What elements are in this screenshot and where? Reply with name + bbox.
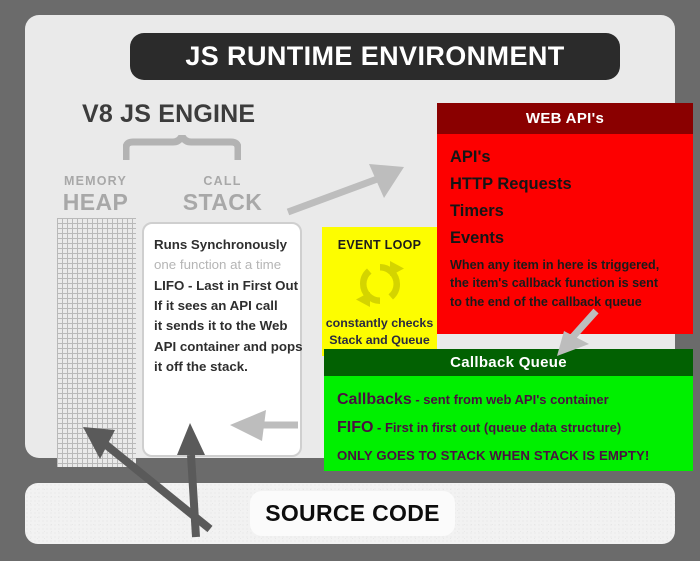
event-loop-box: EVENT LOOP constantly checks Stack and Q… [322,227,437,356]
memory-heap-label-bottom: HEAP [43,191,148,214]
callback-queue-body: Callbacks - sent from web API's containe… [324,376,693,470]
web-apis-note: When any item in here is triggered, the … [450,256,693,312]
diagram-canvas: JS RUNTIME ENVIRONMENT V8 JS ENGINE MEMO… [0,0,700,561]
call-stack-line: it sends it to the Web [154,316,291,336]
web-apis-header-text: WEB API's [526,110,604,127]
callback-queue-row-strong: FIFO [337,419,373,436]
event-loop-caption-line2: Stack and Queue [329,333,430,347]
callback-queue-row-rest: - First in first out (queue data structu… [373,420,621,435]
memory-heap-label-top: MEMORY [43,175,148,188]
web-apis-note-line2: the item's callback function is sent [450,276,658,290]
callback-queue-row: ONLY GOES TO STACK WHEN STACK IS EMPTY! [337,442,693,470]
call-stack-label-bottom: STACK [165,191,280,214]
circular-refresh-arrows-icon [352,259,408,309]
call-stack-line: Runs Synchronously [154,235,291,255]
runtime-title-text: JS RUNTIME ENVIRONMENT [185,41,564,72]
callback-queue-row: Callbacks - sent from web API's containe… [337,386,693,414]
source-code-pill: SOURCE CODE [250,491,455,536]
web-apis-body: API's HTTP Requests Timers Events When a… [437,134,693,311]
call-stack-line: LIFO - Last in First Out [154,276,291,296]
event-loop-caption: constantly checks Stack and Queue [322,315,437,348]
callback-queue-row-rest: - sent from web API's container [412,392,609,407]
callback-queue-header-text: Callback Queue [450,354,567,371]
web-apis-item: HTTP Requests [450,171,693,198]
web-apis-item: API's [450,144,693,171]
callback-queue-header: Callback Queue [324,349,693,376]
curly-brace-icon [123,135,241,161]
web-apis-box: WEB API's API's HTTP Requests Timers Eve… [437,103,693,334]
call-stack-line: one function at a time [154,255,291,275]
source-code-label: SOURCE CODE [265,500,440,527]
web-apis-note-line1: When any item in here is triggered, [450,258,659,272]
memory-heap-grid [57,218,136,467]
callback-queue-row-strong: Callbacks [337,391,412,408]
runtime-title-bar: JS RUNTIME ENVIRONMENT [130,33,620,80]
call-stack-box: Runs Synchronously one function at a tim… [142,222,302,457]
call-stack-label: CALL STACK [165,175,280,214]
web-apis-note-line3: to the end of the callback queue [450,295,642,309]
web-apis-header: WEB API's [437,103,693,134]
callback-queue-box: Callback Queue Callbacks - sent from web… [324,349,693,471]
call-stack-line: API container and pops [154,337,291,357]
source-code-panel: SOURCE CODE [25,483,675,544]
event-loop-caption-line1: constantly checks [326,316,433,330]
event-loop-title: EVENT LOOP [322,238,437,252]
memory-heap-label: MEMORY HEAP [43,175,148,214]
call-stack-line: it off the stack. [154,357,291,377]
callback-queue-row: FIFO - First in first out (queue data st… [337,414,693,442]
call-stack-label-top: CALL [165,175,280,188]
call-stack-line: If it sees an API call [154,296,291,316]
js-runtime-environment-card: JS RUNTIME ENVIRONMENT V8 JS ENGINE MEMO… [25,15,675,458]
callback-queue-row-strong: ONLY GOES TO STACK WHEN STACK IS EMPTY! [337,448,649,463]
web-apis-item: Events [450,225,693,252]
v8-engine-title: V8 JS ENGINE [82,100,255,129]
web-apis-item: Timers [450,198,693,225]
